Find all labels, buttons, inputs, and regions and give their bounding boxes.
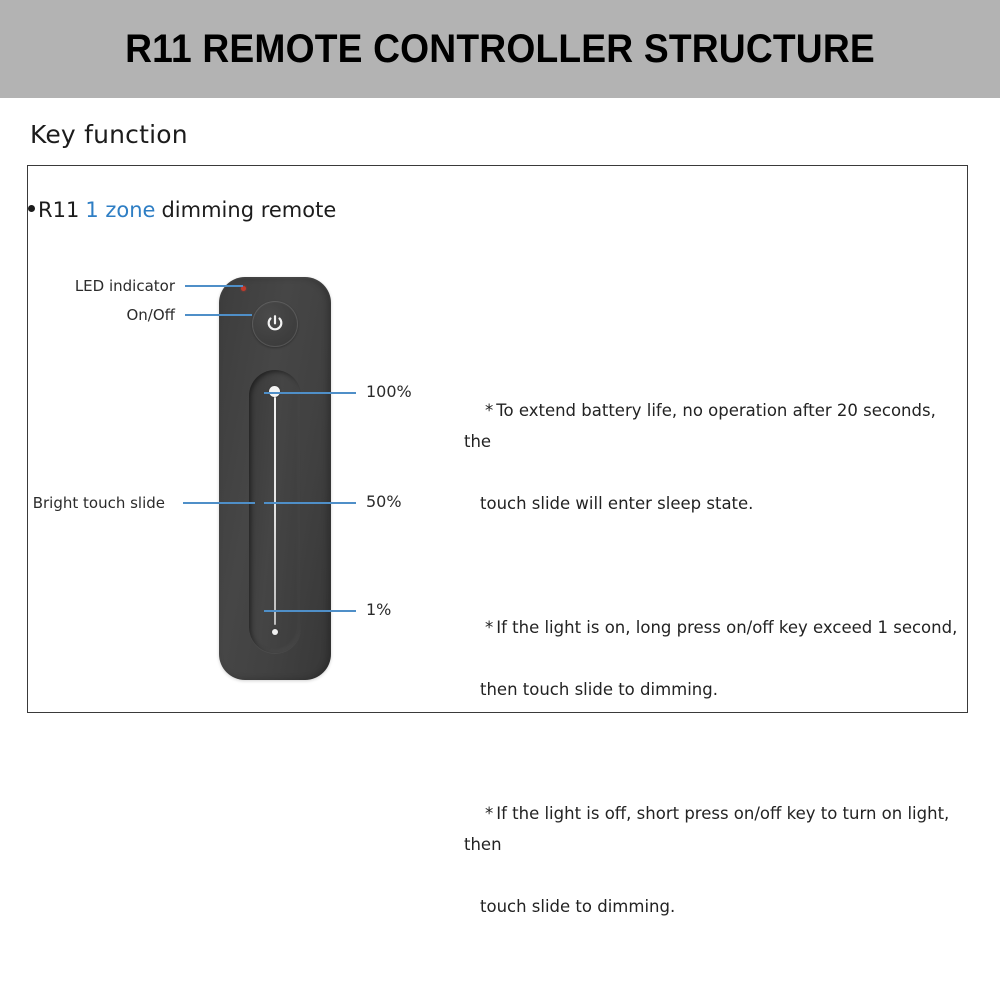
bullet-prefix: R11: [38, 198, 79, 222]
slider-line: [274, 397, 276, 625]
leader-line-100-percent: [264, 392, 356, 394]
scale-label-100-percent: 100%: [366, 382, 412, 401]
note-item: *If the light is off, short press on/off…: [450, 767, 960, 984]
callout-label-led-indicator: LED indicator: [35, 277, 175, 295]
power-icon: [265, 314, 285, 334]
bullet-zone-highlight: 1 zone: [85, 198, 155, 222]
product-bullet: R11 1 zone dimming remote: [28, 198, 336, 222]
notes-list: *To extend battery life, no operation af…: [450, 364, 960, 984]
leader-line-on-off: [185, 314, 252, 316]
leader-line-led-indicator: [185, 285, 243, 287]
callout-label-bright-touch-slide: Bright touch slide: [20, 494, 165, 512]
bullet-dot-icon: [28, 205, 35, 212]
note-line-2: touch slide to dimming.: [464, 891, 960, 922]
page-title: R11 REMOTE CONTROLLER STRUCTURE: [35, 0, 965, 98]
note-line-1: If the light is on, long press on/off ke…: [496, 618, 957, 637]
scale-label-1-percent: 1%: [366, 600, 391, 619]
note-line-1: If the light is off, short press on/off …: [464, 804, 955, 854]
scale-label-50-percent: 50%: [366, 492, 402, 511]
note-item: *To extend battery life, no operation af…: [450, 364, 960, 581]
led-indicator-icon: [241, 286, 246, 291]
note-star: *: [485, 401, 493, 420]
callout-label-on-off: On/Off: [35, 306, 175, 324]
note-line-2: then touch slide to dimming.: [464, 674, 960, 705]
leader-line-bright-touch-slide: [183, 502, 255, 504]
bullet-suffix: dimming remote: [161, 198, 336, 222]
section-heading: Key function: [30, 120, 188, 149]
note-line-2: touch slide will enter sleep state.: [464, 488, 960, 519]
on-off-button[interactable]: [252, 301, 298, 347]
remote-device: [219, 277, 331, 680]
leader-line-50-percent: [264, 502, 356, 504]
slider-bottom-dot-icon: [272, 629, 278, 635]
leader-line-1-percent: [264, 610, 356, 612]
note-star: *: [485, 804, 493, 823]
note-star: *: [485, 618, 493, 637]
note-line-1: To extend battery life, no operation aft…: [464, 401, 941, 451]
note-item: *If the light is on, long press on/off k…: [450, 581, 960, 767]
